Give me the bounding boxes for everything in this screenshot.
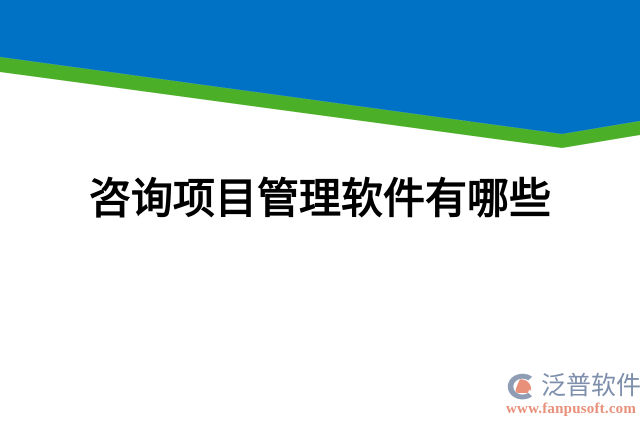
brand-logo-top-row: 泛普软件 [505, 372, 637, 401]
banner-shapes-svg [0, 0, 640, 150]
brand-name-cn: 泛普软件 [541, 371, 640, 400]
banner-decoration [0, 0, 640, 150]
slide-canvas: 咨询项目管理软件有哪些 泛普软件 www.fanpusoft.com [0, 0, 640, 427]
fanpu-logo-icon [507, 373, 539, 400]
page-title: 咨询项目管理软件有哪些 [0, 172, 640, 226]
brand-website-url: www.fanpusoft.com [506, 400, 636, 418]
fanpu-mark-svg [507, 373, 539, 400]
brand-logo: 泛普软件 www.fanpusoft.com [505, 372, 637, 420]
page-title-text: 咨询项目管理软件有哪些 [89, 172, 551, 226]
